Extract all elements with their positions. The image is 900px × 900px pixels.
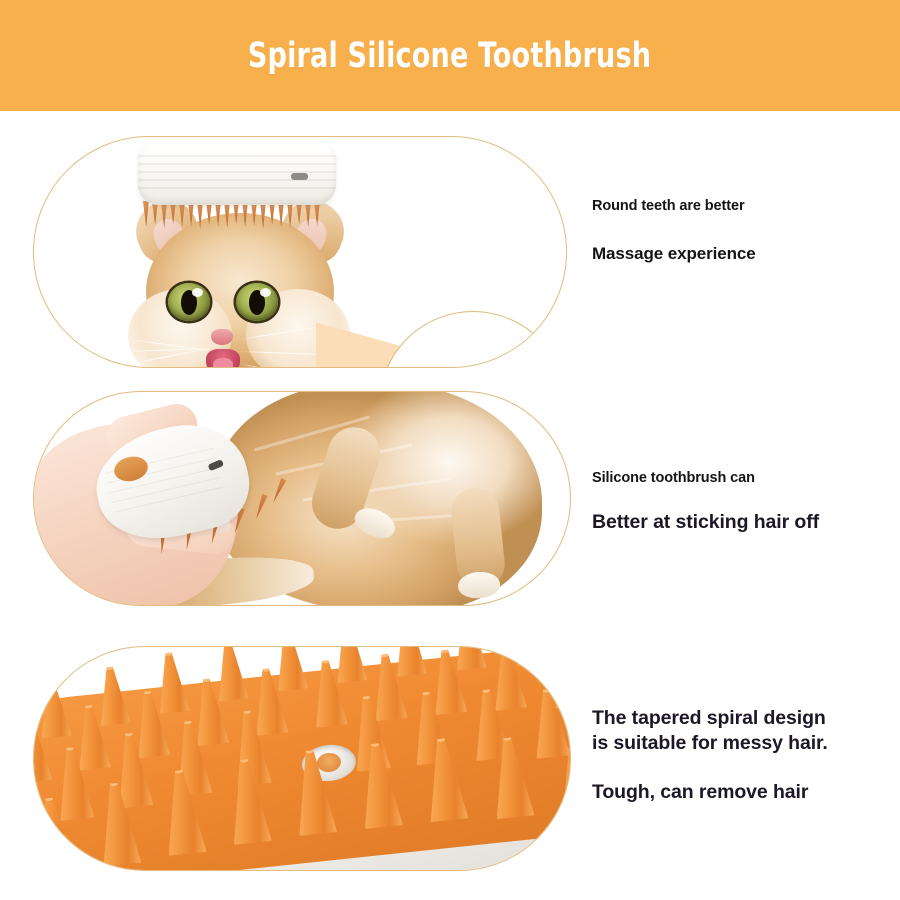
panel-1-image bbox=[34, 137, 566, 367]
magnifier-circle bbox=[379, 311, 566, 367]
panel-2-image bbox=[34, 392, 570, 605]
page-title: Spiral Silicone Toothbrush bbox=[248, 36, 651, 76]
panel-3-text-block: The tapered spiral design is suitable fo… bbox=[592, 706, 894, 805]
steam-brush-device bbox=[138, 143, 336, 205]
cat-eye-glint-left bbox=[192, 288, 203, 297]
panel-3-line-2: Tough, can remove hair bbox=[592, 780, 894, 805]
panel-3-line-1: The tapered spiral design is suitable fo… bbox=[592, 706, 894, 756]
usb-port-icon bbox=[208, 459, 225, 471]
panel-1-text-block: Round teeth are better Massage experienc… bbox=[592, 196, 892, 265]
cat-nose-icon bbox=[211, 329, 233, 345]
feature-panel-3 bbox=[33, 646, 571, 871]
cat-mouth bbox=[206, 349, 240, 367]
header-banner: Spiral Silicone Toothbrush bbox=[0, 0, 900, 111]
panel-1-line-1: Round teeth are better bbox=[592, 196, 892, 216]
feature-panel-1 bbox=[33, 136, 567, 368]
cat-eye-left-icon bbox=[168, 283, 210, 321]
panel-1-line-2: Massage experience bbox=[592, 242, 892, 265]
cat-tongue bbox=[213, 358, 233, 367]
panel-2-line-1: Silicone toothbrush can bbox=[592, 468, 892, 488]
brush-bristle-row bbox=[142, 201, 332, 231]
panel-2-line-2: Better at sticking hair off bbox=[592, 510, 892, 535]
feature-panel-2 bbox=[33, 391, 571, 606]
cat-eye-right-icon bbox=[236, 283, 278, 321]
cat-eye-glint-right bbox=[260, 288, 271, 297]
panel-2-text-block: Silicone toothbrush can Better at sticki… bbox=[592, 468, 892, 535]
usb-port-icon bbox=[291, 173, 308, 180]
bristle-cone-field bbox=[34, 647, 570, 870]
panel-3-image bbox=[34, 647, 570, 870]
